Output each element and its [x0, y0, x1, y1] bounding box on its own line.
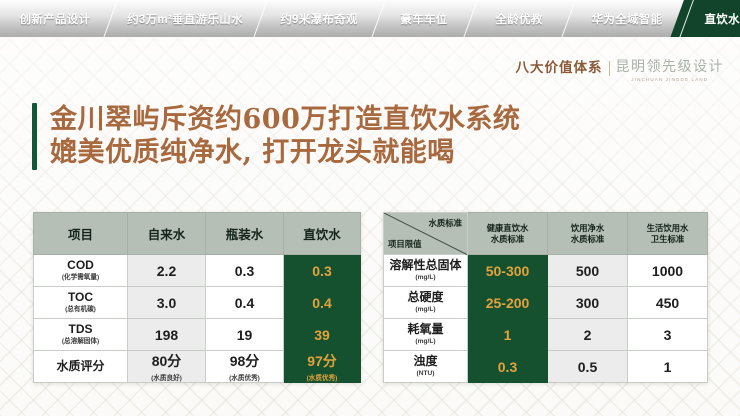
table-row: 溶解性总固体(mg/L)50-3005001000: [384, 255, 708, 287]
table-right-row-label-sub: (mg/L): [384, 338, 467, 346]
table-left-row-label-sub: (总有机碳): [34, 306, 127, 314]
table-right-cell-r4-c1: 0.3: [468, 351, 548, 383]
nav-tab-label: 华为全域智能: [589, 11, 666, 27]
table-right-cell-r3-c1: 1: [468, 319, 548, 351]
table-left-row-label: TOC(总有机碳): [34, 287, 128, 319]
nav-tab-label: 全龄优教: [492, 11, 545, 27]
nav-tab-1[interactable]: 创新产品设计: [0, 0, 110, 37]
table-left-col-header-2: 自来水: [128, 213, 206, 255]
table-right-col-header-1: 健康直饮水水质标准: [468, 213, 548, 255]
table-right-row-label: 总硬度(mg/L): [384, 287, 468, 319]
table-right-header-row: 水质标准 项目限值 健康直饮水水质标准饮用净水水质标准生活饮用水卫生标准: [384, 213, 708, 255]
table-right-col-header-line1: 饮用净水: [548, 223, 627, 234]
table-right-col-header-3: 生活饮用水卫生标准: [628, 213, 708, 255]
table-right-row-label-sub: (NTU): [384, 370, 467, 378]
brand-separator: [609, 61, 610, 76]
table-left-body: COD(化学需氧量)2.20.30.3TOC(总有机碳)3.00.40.4TDS…: [34, 255, 361, 383]
table-left-row-label-sub: (化学需氧量): [34, 274, 127, 282]
nav-tab-label: 约3万m²垂直游乐山水: [124, 11, 246, 27]
headline-block: 金川翠屿斥资约600万打造直饮水系统 媲美优质纯净水, 打开龙头就能喝: [32, 103, 520, 170]
table-right-cell-r3-c2: 2: [548, 319, 628, 351]
table-left-cell-r1-c2: 0.3: [206, 255, 284, 287]
table-right-row-label: 耗氧量(mg/L): [384, 319, 468, 351]
brand-secondary-block: 昆明领先级设计 JINCHUAN JINGDE LAND: [616, 60, 725, 82]
table-right-cell-r2-c3: 450: [628, 287, 708, 319]
brand-primary-text: 八大价值体系: [516, 60, 603, 76]
nav-tab-5[interactable]: 全龄优教: [470, 0, 568, 37]
brand-secondary-text: 昆明领先级设计: [616, 60, 725, 75]
table-left-cell-r4-c2: 98分(水质优秀): [206, 351, 284, 383]
headline-line-2: 媲美优质纯净水, 打开龙头就能喝: [50, 136, 520, 169]
table-left-cell-r2-c1: 3.0: [128, 287, 206, 319]
table-left-col-header-1: 项目: [34, 213, 128, 255]
table-left-head: 项目自来水瓶装水直饮水: [34, 213, 361, 255]
table-row: TDS(总溶解固体)1981939: [34, 319, 361, 351]
table-left-cell-r3-c2: 19: [206, 319, 284, 351]
headline-line-1: 金川翠屿斥资约600万打造直饮水系统: [50, 103, 520, 136]
nav-tab-label: 豪车车位: [397, 11, 450, 27]
table-left-cell-r2-c2: 0.4: [206, 287, 284, 319]
table-right-cell-r4-c3: 1: [628, 351, 708, 383]
table-row: 浊度(NTU)0.30.51: [384, 351, 708, 383]
table-left-cell-r4-c3: 97分(水质优秀): [284, 351, 361, 383]
table-right-row-label: 溶解性总固体(mg/L): [384, 255, 468, 287]
table-right-col-header-line2: 水质标准: [468, 234, 547, 245]
nav-tab-7[interactable]: 直饮水入户: [686, 0, 740, 37]
table-right-cell-r4-c2: 0.5: [548, 351, 628, 383]
table-left-cell-sub: (水质优秀): [284, 372, 360, 382]
headline-lines: 金川翠屿斥资约600万打造直饮水系统 媲美优质纯净水, 打开龙头就能喝: [50, 103, 520, 170]
table-left-row-label: COD(化学需氧量): [34, 255, 128, 287]
table-row: COD(化学需氧量)2.20.30.3: [34, 255, 361, 287]
table-right-col-header-2: 饮用净水水质标准: [548, 213, 628, 255]
table-row: 耗氧量(mg/L)123: [384, 319, 708, 351]
top-navigation: 创新产品设计约3万m²垂直游乐山水约9米瀑布奇观豪车车位全龄优教华为全域智能直饮…: [0, 0, 740, 37]
table-right-cell-r1-c1: 50-300: [468, 255, 548, 287]
table-right-col-header-line2: 水质标准: [548, 234, 627, 245]
nav-tab-label: 直饮水入户: [702, 11, 740, 27]
table-right-body: 溶解性总固体(mg/L)50-3005001000总硬度(mg/L)25-200…: [384, 255, 708, 383]
table-right-row-label: 浊度(NTU): [384, 351, 468, 383]
table-left-col-header-3: 瓶装水: [206, 213, 284, 255]
table-left-cell-sub: (水质优秀): [206, 372, 283, 382]
table-row: TOC(总有机碳)3.00.40.4: [34, 287, 361, 319]
table-left-cell-r3-c3: 39: [284, 319, 361, 351]
table-right-cell-r1-c2: 500: [548, 255, 628, 287]
nav-tab-2[interactable]: 约3万m²垂直游乐山水: [110, 0, 260, 37]
water-quality-comparison-table: 项目自来水瓶装水直饮水 COD(化学需氧量)2.20.30.3TOC(总有机碳)…: [33, 212, 361, 383]
table-left-cell-r1-c3: 0.3: [284, 255, 361, 287]
corner-split-header-cell: 水质标准 项目限值: [384, 213, 468, 255]
table-left-col-header-4: 直饮水: [284, 213, 361, 255]
nav-tab-6[interactable]: 华为全域智能: [568, 0, 686, 37]
corner-top-label: 水质标准: [429, 217, 463, 229]
table-right-cell-r2-c2: 300: [548, 287, 628, 319]
table-left-header-row: 项目自来水瓶装水直饮水: [34, 213, 361, 255]
table-left-row-label-sub: (总溶解固体): [34, 338, 127, 346]
table-right-col-header-line1: 健康直饮水: [468, 223, 547, 234]
table-left-cell-r2-c3: 0.4: [284, 287, 361, 319]
table-row: 总硬度(mg/L)25-200300450: [384, 287, 708, 319]
brand-lockup: 八大价值体系 昆明领先级设计 JINCHUAN JINGDE LAND: [516, 60, 725, 82]
table-right-row-label-sub: (mg/L): [384, 274, 467, 282]
table-right-col-header-line2: 卫生标准: [628, 234, 707, 245]
table-right-col-header-line1: 生活饮用水: [628, 223, 707, 234]
nav-tab-label: 创新产品设计: [17, 11, 94, 27]
table-right-head: 水质标准 项目限值 健康直饮水水质标准饮用净水水质标准生活饮用水卫生标准: [384, 213, 708, 255]
table-right-cell-r1-c3: 1000: [628, 255, 708, 287]
nav-tab-3[interactable]: 约9米瀑布奇观: [260, 0, 378, 37]
table-left-row-label: 水质评分: [34, 351, 128, 383]
table-right-cell-r2-c1: 25-200: [468, 287, 548, 319]
headline-accent-bar: [32, 103, 37, 170]
table-right-cell-r3-c3: 3: [628, 319, 708, 351]
table-row: 水质评分80分(水质良好)98分(水质优秀)97分(水质优秀): [34, 351, 361, 383]
water-standard-comparison-table: 水质标准 项目限值 健康直饮水水质标准饮用净水水质标准生活饮用水卫生标准 溶解性…: [383, 212, 708, 383]
table-left-cell-sub: (水质良好): [128, 372, 205, 382]
nav-tab-label: 约9米瀑布奇观: [277, 11, 361, 27]
brand-english-text: JINCHUAN JINGDE LAND: [631, 77, 708, 82]
nav-tab-4[interactable]: 豪车车位: [378, 0, 470, 37]
corner-bottom-label: 项目限值: [388, 238, 422, 250]
table-right-row-label-sub: (mg/L): [384, 306, 467, 314]
table-left-cell-r1-c1: 2.2: [128, 255, 206, 287]
table-left-cell-r3-c1: 198: [128, 319, 206, 351]
table-left-cell-r4-c1: 80分(水质良好): [128, 351, 206, 383]
table-left-row-label: TDS(总溶解固体): [34, 319, 128, 351]
